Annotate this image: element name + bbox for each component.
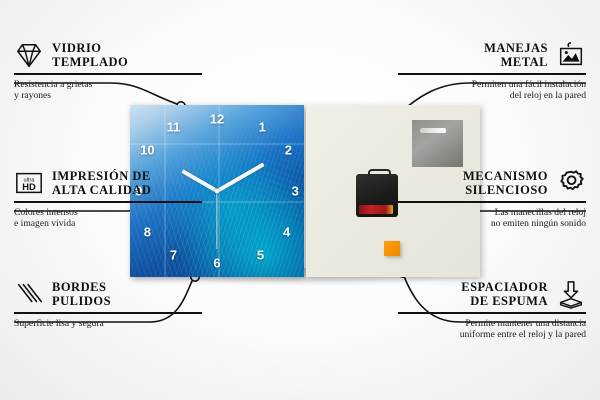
framed-picture-icon xyxy=(556,40,586,70)
divider xyxy=(14,201,202,203)
clock-number: 2 xyxy=(285,143,292,158)
grid-line xyxy=(130,143,304,145)
feature-title: ESPACIADOR DE ESPUMA xyxy=(461,280,548,308)
feature-espaciador-espuma: ESPACIADOR DE ESPUMA Permite mantener un… xyxy=(398,279,586,341)
divider xyxy=(398,312,586,314)
divider xyxy=(14,312,202,314)
feature-header: MANEJAS METAL xyxy=(398,40,586,70)
feature-header: BORDES PULIDOS xyxy=(14,279,202,309)
clock-number: 11 xyxy=(167,120,181,135)
clock-mechanism-box xyxy=(356,174,398,217)
feature-title: MECANISMO SILENCIOSO xyxy=(463,169,548,197)
foam-spacer-icon xyxy=(556,279,586,309)
clock-center-cap xyxy=(215,189,220,194)
hanger-slot xyxy=(420,128,446,133)
feature-title: BORDES PULIDOS xyxy=(52,280,111,308)
clock-number: 7 xyxy=(170,248,177,263)
metal-hanger-plate-icon xyxy=(412,120,462,166)
battery xyxy=(359,205,393,214)
divider xyxy=(398,73,586,75)
infographic-canvas: 12 1 2 3 4 5 6 7 8 9 10 11 xyxy=(0,0,600,400)
clock-number: 4 xyxy=(283,225,290,240)
feature-manejas-metal: MANEJAS METAL Permiten una fácil instala… xyxy=(398,40,586,102)
feature-header: MECANISMO SILENCIOSO xyxy=(398,168,586,198)
diamond-icon xyxy=(14,40,44,70)
feature-bordes-pulidos: BORDES PULIDOS Superficie lisa y segura xyxy=(14,279,202,329)
foam-spacer-square xyxy=(384,241,400,256)
feature-header: ultra HD IMPRESIÓN DE ALTA CALIDAD xyxy=(14,168,202,198)
divider xyxy=(14,73,202,75)
svg-text:HD: HD xyxy=(22,182,36,192)
gear-icon xyxy=(556,168,586,198)
feature-title: IMPRESIÓN DE ALTA CALIDAD xyxy=(52,169,151,197)
clock-number: 10 xyxy=(140,143,154,158)
divider xyxy=(398,201,586,203)
clock-number: 1 xyxy=(259,120,266,135)
polished-edges-icon xyxy=(14,279,44,309)
clock-number: 12 xyxy=(210,112,224,127)
clock-number: 5 xyxy=(257,248,264,263)
clock-number: 3 xyxy=(292,184,299,199)
feature-title: VIDRIO TEMPLADO xyxy=(52,41,128,69)
feature-vidrio-templado: VIDRIO TEMPLADO Resistencia a grietas y … xyxy=(14,40,202,102)
feature-header: ESPACIADOR DE ESPUMA xyxy=(398,279,586,309)
ultra-hd-icon: ultra HD xyxy=(14,168,44,198)
clock-number: 6 xyxy=(213,256,220,271)
feature-title: MANEJAS METAL xyxy=(484,41,548,69)
mechanism-tab xyxy=(368,169,390,177)
feature-header: VIDRIO TEMPLADO xyxy=(14,40,202,70)
feature-mecanismo-silencioso: MECANISMO SILENCIOSO Las manecillas del … xyxy=(398,168,586,230)
feature-impresion-alta-calidad: ultra HD IMPRESIÓN DE ALTA CALIDAD Color… xyxy=(14,168,202,230)
